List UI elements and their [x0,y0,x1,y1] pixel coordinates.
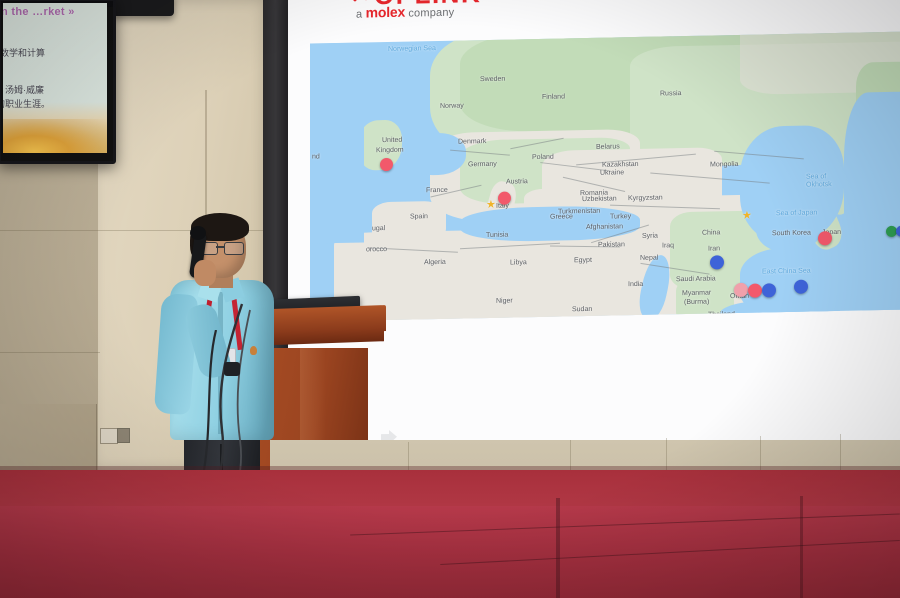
map-label: (Burma) [684,299,709,307]
eyeglasses-right-lens [224,242,244,255]
map-label: Finland [542,93,565,100]
tagline-prefix: a [356,9,362,21]
map-label: Tunisia [486,232,508,239]
map-label: Norway [440,102,464,109]
map-label: Niger [496,297,513,304]
map-label: India [628,281,643,288]
map-label: Austria [506,178,528,185]
confidence-monitor-screen: …ct on the …rket » …大学数学和计算 …市场。汤姆·威廉 …最… [3,3,107,153]
map-label: Russia [660,90,681,97]
map-label: United [382,137,402,144]
molex-brand: molex [366,4,405,21]
map-label: Sweden [480,76,505,84]
eyeglasses-bridge [216,246,224,248]
map-label: Syria [642,233,658,240]
oplink-logo: OPLINK a molex company [316,0,536,33]
world-map-image: Norwegian SeaSwedenNorwayFinlandDenmarkU… [310,32,900,322]
map-label: Sea of Japan [776,209,817,217]
map-label: Kingdom [376,147,404,155]
map-label: Algeria [424,259,446,266]
map-label: China [702,229,720,236]
wall-switch[interactable] [100,428,118,444]
map-marker-italy-star[interactable]: ★ [486,200,496,211]
cable-clip [224,362,240,376]
conference-photo-scene: …ct on the …rket » …大学数学和计算 …市场。汤姆·威廉 …最… [0,0,900,598]
map-label: Norwegian Sea [388,45,436,53]
map-label: Egypt [574,257,592,264]
map-label: Pakistan [598,241,625,249]
speaker-hand [194,260,216,286]
map-label: Iran [708,245,720,252]
map-label: Germany [468,161,497,169]
map-label: Turkey [610,213,631,220]
wall-outlet[interactable] [117,428,130,443]
red-carpet-foreground [0,506,900,598]
monitor-title-text: …ct on the …rket » [3,5,107,20]
map-label: Denmark [458,138,486,146]
oplink-logo-mark [346,0,372,3]
map-label: Saudi Arabia [676,275,716,283]
confidence-monitor: …ct on the …rket » …大学数学和计算 …市场。汤姆·威廉 …最… [0,0,116,164]
map-label: Sea of [806,173,826,180]
tagline-suffix: company [408,7,454,20]
map-label: Nepal [640,255,658,262]
map-label: France [426,187,448,194]
map-label: Kyrgyzstan [628,194,663,202]
ceiling-speaker [112,0,174,16]
map-label: orocco [366,246,387,253]
map-label: Afghanistan [586,223,623,231]
map-label: Kazakhstan [602,161,639,169]
map-label: nd [312,153,320,160]
map-marker-pacific-b[interactable] [896,226,900,237]
map-label: South Korea [772,230,811,238]
projection-screen: OPLINK a molex company [288,0,900,468]
map-label: Belarus [596,143,620,150]
map-label: Ukraine [600,169,624,176]
monitor-cjk-line-2: …市场。汤姆·威廉 …最长的职业生涯。 [3,83,107,111]
map-label: Turkmenistan [558,208,600,216]
microphone-head [190,226,206,240]
map-label: East China Sea [762,268,811,276]
map-label: Iraq [662,242,674,249]
monitor-cjk-line-1: …大学数学和计算 [3,47,107,59]
map-marker-uk[interactable] [380,158,393,171]
oplink-tagline: a molex company [356,3,454,21]
carpet-seam [800,496,803,598]
map-label: Mongolia [710,161,738,169]
map-marker-beijing-star[interactable]: ★ [742,211,752,222]
monitor-decorative-glow [3,119,107,153]
map-label: ugal [372,225,385,232]
map-label: Spain [410,213,428,220]
wall-seam [0,352,100,353]
map-label: Okhotsk [806,181,832,189]
map-label: Sudan [572,306,592,313]
carpet-seam [556,498,560,598]
map-label: Poland [532,154,554,161]
map-label: Myanmar [682,290,711,298]
map-label: Libya [510,259,527,266]
map-label: Uzbekistan [582,195,617,203]
